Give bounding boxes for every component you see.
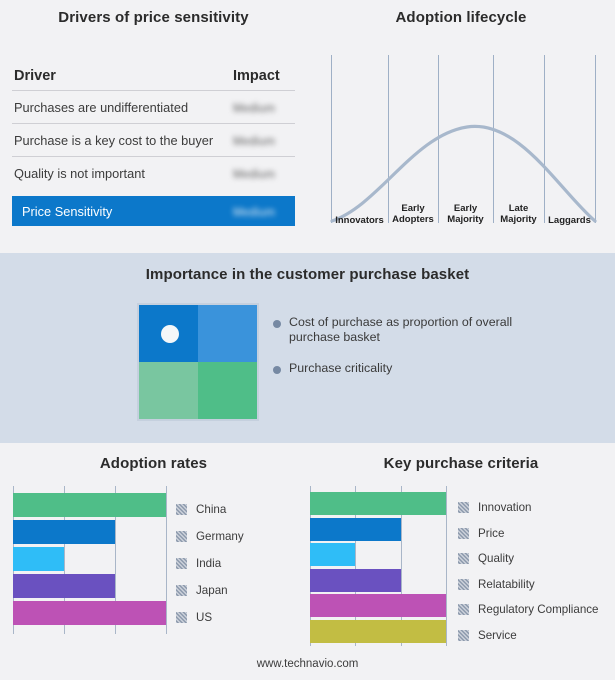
- matrix-quadrant-bottom-left: [139, 362, 198, 419]
- legend-item: Regulatory Compliance: [458, 597, 599, 623]
- table-row: Purchase is a key cost to the buyer Medi…: [12, 124, 295, 156]
- drivers-panel: Drivers of price sensitivity Driver Impa…: [0, 0, 307, 253]
- legend-item: Innovation: [458, 495, 599, 521]
- grid-line: [166, 486, 167, 634]
- key-purchase-criteria-title: Key purchase criteria: [307, 455, 615, 472]
- adoption-rates-chart: ChinaGermanyIndiaJapanUS: [13, 486, 295, 646]
- legend-swatch-icon: [176, 558, 187, 569]
- legend-swatch-icon: [176, 585, 187, 596]
- driver-label: Quality is not important: [12, 166, 233, 181]
- adoption-plot-area: [13, 486, 166, 634]
- adoption-rates-title: Adoption rates: [0, 455, 307, 472]
- segment-label-laggards: Laggards: [544, 215, 595, 226]
- legend-swatch-icon: [458, 630, 469, 641]
- legend-item: India: [176, 550, 244, 577]
- legend-label: Relatability: [478, 578, 535, 591]
- driver-label: Purchases are undifferentiated: [12, 100, 233, 115]
- legend-label: Cost of purchase as proportion of overal…: [289, 315, 549, 345]
- impact-value: Medium: [233, 204, 295, 219]
- impact-value: Medium: [233, 133, 295, 148]
- impact-value: Medium: [233, 100, 295, 115]
- key-purchase-criteria-chart: InnovationPriceQualityRelatabilityRegula…: [310, 486, 610, 651]
- bar: [13, 520, 115, 544]
- segment-label-innovators: Innovators: [331, 215, 388, 226]
- bar: [13, 493, 166, 517]
- table-row: Quality is not important Medium: [12, 157, 295, 189]
- legend-label: China: [196, 503, 226, 516]
- lifecycle-panel: Adoption lifecycle Innovators EarlyAdopt…: [307, 0, 615, 253]
- legend-item: US: [176, 604, 244, 631]
- legend-label: Germany: [196, 530, 244, 543]
- bar: [310, 518, 401, 541]
- drivers-title: Drivers of price sensitivity: [0, 9, 307, 26]
- bullet-icon: [273, 366, 281, 374]
- matrix-quadrant-top-right: [198, 305, 257, 362]
- basket-matrix-frame: [137, 303, 259, 421]
- bar: [13, 547, 64, 571]
- legend-swatch-icon: [176, 531, 187, 542]
- legend-item: Relatability: [458, 572, 599, 598]
- basket-panel: Importance in the customer purchase bask…: [0, 253, 615, 443]
- legend-item: Service: [458, 623, 599, 649]
- legend-item: Cost of purchase as proportion of overal…: [273, 315, 593, 345]
- legend-label: India: [196, 557, 221, 570]
- footer-url: www.technavio.com: [0, 658, 615, 670]
- legend-label: Service: [478, 629, 517, 642]
- basket-legend: Cost of purchase as proportion of overal…: [273, 315, 593, 392]
- segment-label-early-adopters: EarlyAdopters: [388, 203, 438, 225]
- legend-item: Germany: [176, 523, 244, 550]
- bar: [310, 492, 446, 515]
- legend-swatch-icon: [458, 553, 469, 564]
- segment-label-late-majority: LateMajority: [493, 203, 544, 225]
- drivers-table: Driver Impact Purchases are undifferenti…: [12, 62, 295, 226]
- column-header-driver: Driver: [12, 68, 233, 84]
- legend-item: China: [176, 496, 244, 523]
- grid-line: [446, 486, 447, 646]
- legend-swatch-icon: [458, 579, 469, 590]
- legend-swatch-icon: [458, 528, 469, 539]
- driver-label: Purchase is a key cost to the buyer: [12, 133, 233, 148]
- legend-label: Regulatory Compliance: [478, 603, 599, 616]
- adoption-rates-panel: Adoption rates ChinaGermanyIndiaJapanUS: [0, 443, 307, 680]
- legend-label: Quality: [478, 552, 514, 565]
- bullet-icon: [273, 320, 281, 328]
- white-dot-marker-icon: [161, 325, 179, 343]
- legend-label: Japan: [196, 584, 228, 597]
- bar: [13, 601, 166, 625]
- basket-title: Importance in the customer purchase bask…: [0, 266, 615, 283]
- bar: [310, 620, 446, 643]
- criteria-legend: InnovationPriceQualityRelatabilityRegula…: [458, 495, 599, 648]
- impact-value: Medium: [233, 166, 295, 181]
- matrix-quadrant-bottom-right: [198, 362, 257, 419]
- legend-swatch-icon: [458, 604, 469, 615]
- table-header-row: Driver Impact: [12, 62, 295, 90]
- segment-label-early-majority: EarlyMajority: [438, 203, 493, 225]
- lifecycle-title: Adoption lifecycle: [307, 9, 615, 26]
- adoption-legend: ChinaGermanyIndiaJapanUS: [176, 496, 244, 631]
- lifecycle-plot: Innovators EarlyAdopters EarlyMajority L…: [319, 55, 604, 235]
- bar: [310, 594, 446, 617]
- bar: [310, 569, 401, 592]
- matrix-quadrant-top-left: [139, 305, 198, 362]
- legend-swatch-icon: [458, 502, 469, 513]
- table-row: Purchases are undifferentiated Medium: [12, 91, 295, 123]
- key-purchase-criteria-panel: Key purchase criteria InnovationPriceQua…: [307, 443, 615, 680]
- legend-label: Price: [478, 527, 504, 540]
- legend-item: Purchase criticality: [273, 361, 593, 376]
- highlighted-row-price-sensitivity: Price Sensitivity Medium: [12, 196, 295, 226]
- basket-matrix: [139, 305, 257, 419]
- column-header-impact: Impact: [233, 68, 295, 84]
- legend-item: Quality: [458, 546, 599, 572]
- legend-item: Price: [458, 521, 599, 547]
- bar: [310, 543, 355, 566]
- legend-label: Purchase criticality: [289, 361, 392, 376]
- legend-label: US: [196, 611, 212, 624]
- legend-item: Japan: [176, 577, 244, 604]
- legend-label: Innovation: [478, 501, 532, 514]
- criteria-plot-area: [310, 486, 446, 646]
- legend-swatch-icon: [176, 612, 187, 623]
- legend-swatch-icon: [176, 504, 187, 515]
- bar: [13, 574, 115, 598]
- driver-label: Price Sensitivity: [12, 204, 233, 219]
